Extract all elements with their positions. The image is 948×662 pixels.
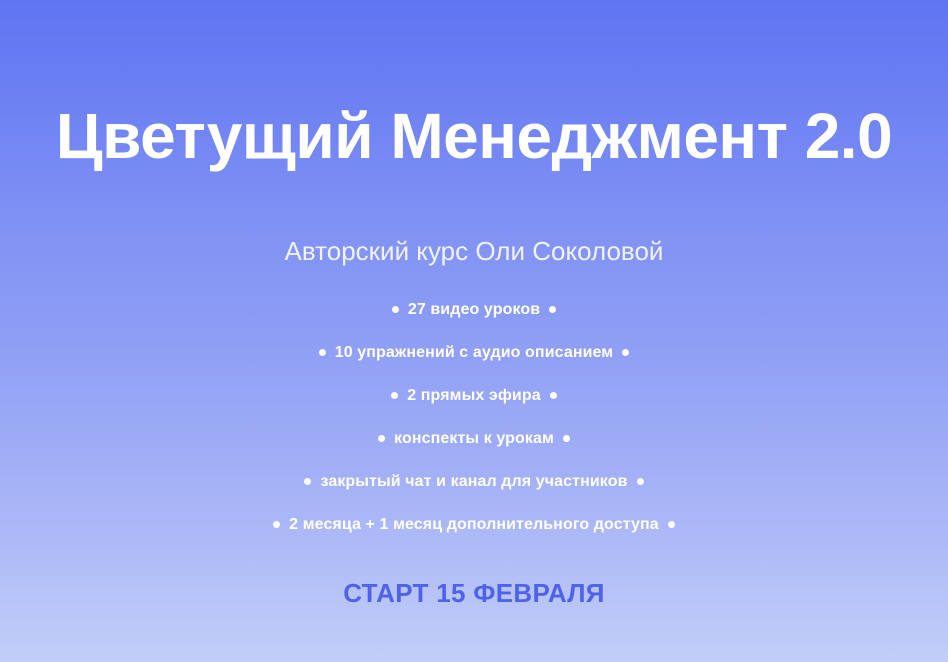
bullet-dot-icon [392, 306, 399, 313]
page-title: Цветущий Менеджмент 2.0 [0, 104, 948, 168]
bullet-dot-icon [378, 435, 385, 442]
bullet-dot-icon [563, 435, 570, 442]
bullet-dot-icon [391, 392, 398, 399]
bullet-dot-icon [319, 349, 326, 356]
start-date-label: СТАРТ 15 ФЕВРАЛЯ [0, 580, 948, 606]
list-item: 2 месяца + 1 месяц дополнительного досту… [0, 503, 948, 546]
bullet-dot-icon [668, 521, 675, 528]
feature-label: 27 видео уроков [408, 302, 540, 318]
feature-label: 2 месяца + 1 месяц дополнительного досту… [289, 517, 659, 533]
list-item: 27 видео уроков [0, 288, 948, 331]
course-subtitle: Авторский курс Оли Соколовой [0, 238, 948, 264]
list-item: конспекты к урокам [0, 417, 948, 460]
bullet-dot-icon [304, 478, 311, 485]
bullet-dot-icon [550, 392, 557, 399]
bullet-dot-icon [622, 349, 629, 356]
features-list: 27 видео уроков 10 упражнений с аудио оп… [0, 288, 948, 546]
list-item: 10 упражнений с аудио описанием [0, 331, 948, 374]
feature-label: 10 упражнений с аудио описанием [335, 345, 614, 361]
bullet-dot-icon [273, 521, 280, 528]
feature-label: 2 прямых эфира [407, 388, 541, 404]
bullet-dot-icon [637, 478, 644, 485]
feature-label: конспекты к урокам [394, 431, 554, 447]
feature-label: закрытый чат и канал для участников [320, 474, 627, 490]
list-item: 2 прямых эфира [0, 374, 948, 417]
bullet-dot-icon [549, 306, 556, 313]
list-item: закрытый чат и канал для участников [0, 460, 948, 503]
promo-slide: Цветущий Менеджмент 2.0 Авторский курс О… [0, 0, 948, 662]
